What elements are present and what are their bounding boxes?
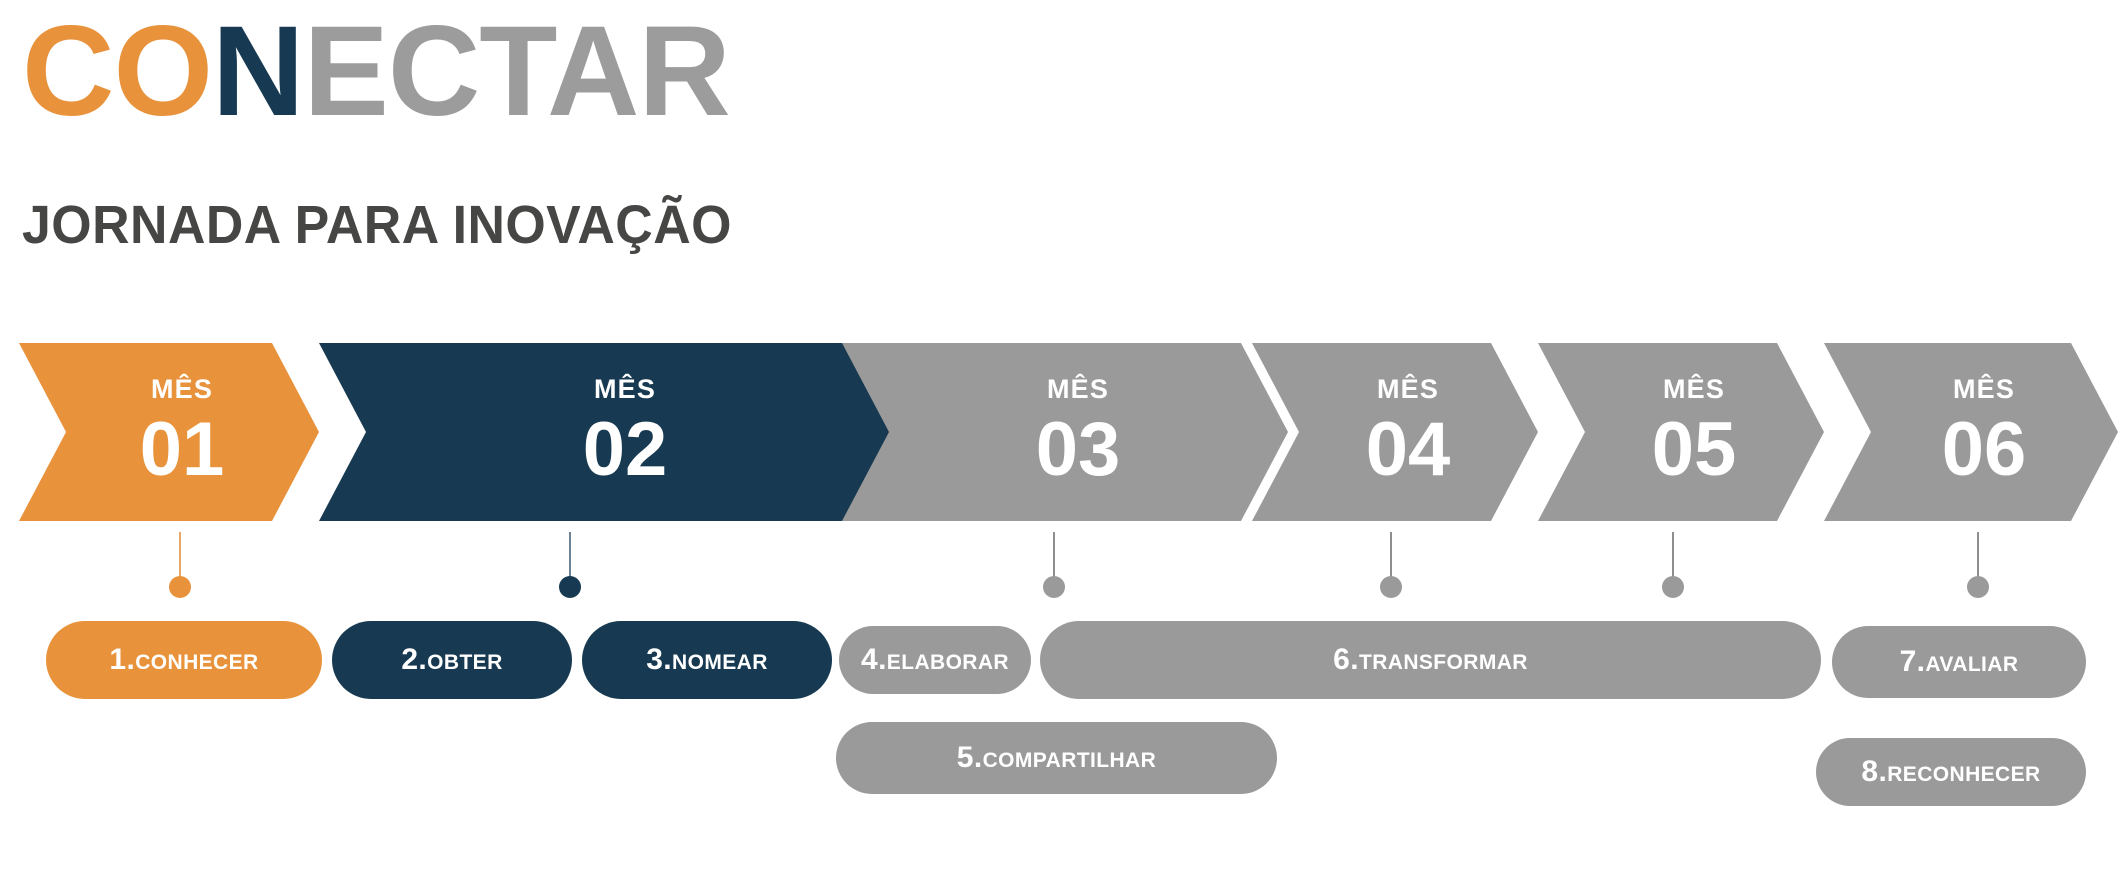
month-label: MÊS bbox=[1377, 376, 1439, 403]
step-pill-conhecer[interactable]: 1.Conhecer bbox=[46, 621, 322, 699]
brand-title-part-ectar: ECTAR bbox=[303, 0, 729, 143]
step-pill-label: 1.Conhecer bbox=[109, 645, 258, 675]
month-chevron-02[interactable]: MÊS 02 bbox=[319, 343, 905, 521]
brand-title-part-co: CO bbox=[22, 0, 212, 143]
brand-title-part-n: N bbox=[212, 0, 303, 143]
month-number: 03 bbox=[1036, 412, 1121, 488]
connector-dot-02 bbox=[559, 576, 581, 598]
month-label: MÊS bbox=[594, 376, 656, 403]
connector-dot-04 bbox=[1380, 576, 1402, 598]
step-pill-compartilhar[interactable]: 5.Compartilhar bbox=[836, 722, 1277, 794]
month-chevron-05[interactable]: MÊS 05 bbox=[1538, 343, 1824, 521]
step-pill-avaliar[interactable]: 7.Avaliar bbox=[1832, 626, 2086, 698]
step-pill-reconhecer[interactable]: 8.Reconhecer bbox=[1816, 738, 2086, 806]
month-label: MÊS bbox=[1047, 376, 1109, 403]
month-chevron-01[interactable]: MÊS 01 bbox=[19, 343, 319, 521]
connector-dot-05 bbox=[1662, 576, 1684, 598]
step-pill-label: 8.Reconhecer bbox=[1861, 757, 2040, 787]
step-pill-nomear[interactable]: 3.Nomear bbox=[582, 621, 832, 699]
step-pill-label: 4.Elaborar bbox=[861, 645, 1009, 675]
month-chevron-03[interactable]: MÊS 03 bbox=[842, 343, 1288, 521]
step-pill-label: 7.Avaliar bbox=[1900, 647, 2019, 677]
infographic-canvas: CONECTAR JORNADA PARA INOVAÇÃO MÊS 01 MÊ… bbox=[0, 0, 2118, 880]
connector-dot-01 bbox=[169, 576, 191, 598]
step-pill-elaborar[interactable]: 4.Elaborar bbox=[839, 626, 1031, 694]
brand-title: CONECTAR bbox=[22, 8, 730, 136]
month-chevron-band: MÊS 01 MÊS 02 MÊS 03 bbox=[0, 343, 2118, 521]
month-number: 06 bbox=[1942, 412, 2027, 488]
step-pill-transformar[interactable]: 6.Transformar bbox=[1040, 621, 1821, 699]
month-label: MÊS bbox=[151, 376, 213, 403]
page-subtitle: JORNADA PARA INOVAÇÃO bbox=[22, 198, 732, 252]
step-pill-label: 5.Compartilhar bbox=[957, 743, 1156, 773]
connector-dot-06 bbox=[1967, 576, 1989, 598]
month-chevron-04[interactable]: MÊS 04 bbox=[1252, 343, 1538, 521]
connector-dot-03 bbox=[1043, 576, 1065, 598]
step-pill-obter[interactable]: 2.Obter bbox=[332, 621, 572, 699]
step-pill-label: 3.Nomear bbox=[646, 645, 768, 675]
step-pill-label: 6.Transformar bbox=[1333, 645, 1528, 675]
step-pill-label: 2.Obter bbox=[401, 645, 502, 675]
month-label: MÊS bbox=[1953, 376, 2015, 403]
month-number: 04 bbox=[1366, 412, 1451, 488]
month-number: 01 bbox=[140, 412, 225, 488]
month-label: MÊS bbox=[1663, 376, 1725, 403]
month-chevron-06[interactable]: MÊS 06 bbox=[1824, 343, 2118, 521]
month-number: 02 bbox=[583, 412, 668, 488]
month-number: 05 bbox=[1652, 412, 1737, 488]
